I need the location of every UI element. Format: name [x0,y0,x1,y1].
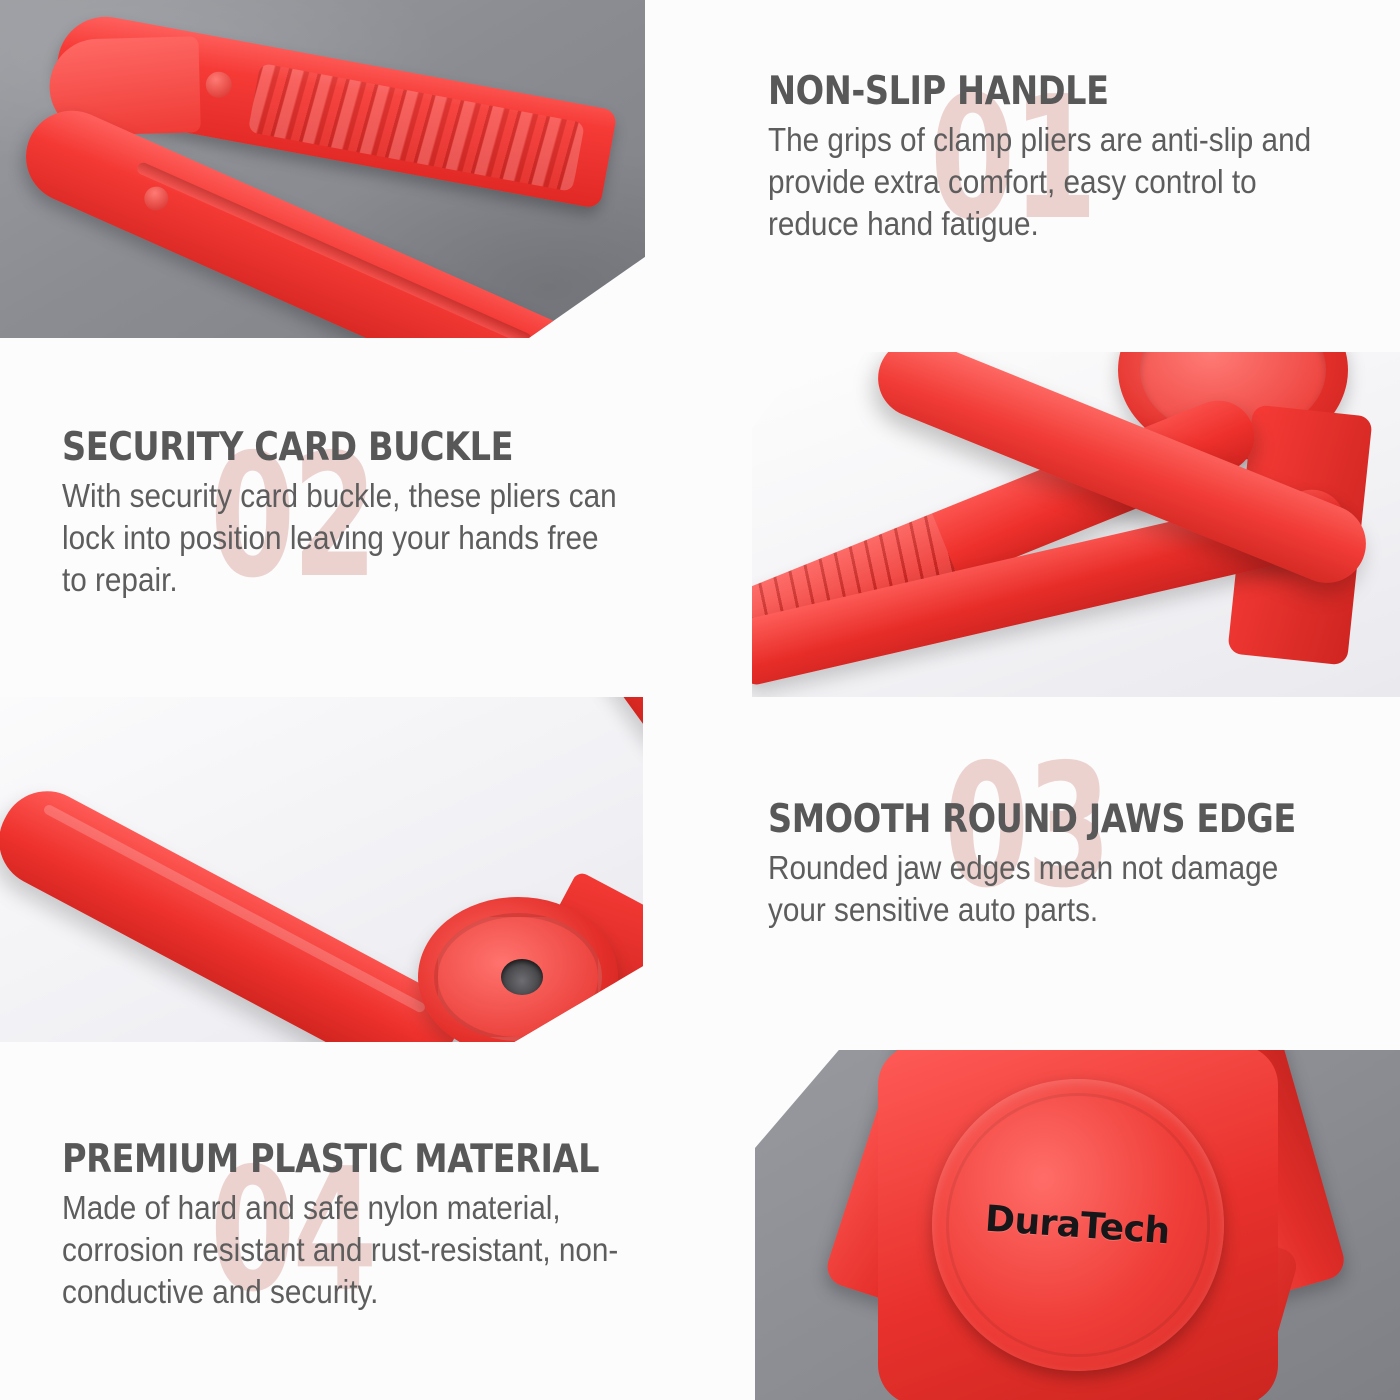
photo-security-card-buckle [752,352,1400,697]
feature-body: The grips of clamp pliers are anti-slip … [768,119,1326,246]
feature-block-03: 03 SMOOTH ROUND JAWS EDGE Rounded jaw ed… [768,800,1400,931]
plier-pivot-disc: DuraTech [932,1079,1224,1371]
feature-title: NON-SLIP HANDLE [768,72,1301,113]
duratech-logo: DuraTech [984,1198,1171,1252]
photo-duratech-branding: DuraTech [755,1050,1400,1400]
jaw-rounded-edge [42,803,426,1014]
plier-jaw-lower [0,775,469,1042]
feature-block-04: 04 PREMIUM PLASTIC MATERIAL Made of hard… [62,1140,712,1314]
feature-title: PREMIUM PLASTIC MATERIAL [62,1140,621,1181]
handle-pin [140,183,172,215]
feature-body: Made of hard and safe nylon material, co… [62,1187,647,1314]
pivot-hole [501,959,543,995]
feature-title: SMOOTH ROUND JAWS EDGE [768,800,1318,841]
feature-body: With security card buckle, these pliers … [62,475,620,602]
plier-jaw-upper [394,697,643,761]
feature-title: SECURITY CARD BUCKLE [62,428,595,469]
feature-body: Rounded jaw edges mean not damage your s… [768,847,1344,931]
feature-block-01: 01 NON-SLIP HANDLE The grips of clamp pl… [768,72,1388,246]
feature-block-02: 02 SECURITY CARD BUCKLE With security ca… [62,428,682,602]
handle-pin [204,70,234,100]
product-infographic: 01 NON-SLIP HANDLE The grips of clamp pl… [0,0,1400,1400]
photo-non-slip-handles [0,0,645,338]
photo-round-jaws [0,697,643,1042]
